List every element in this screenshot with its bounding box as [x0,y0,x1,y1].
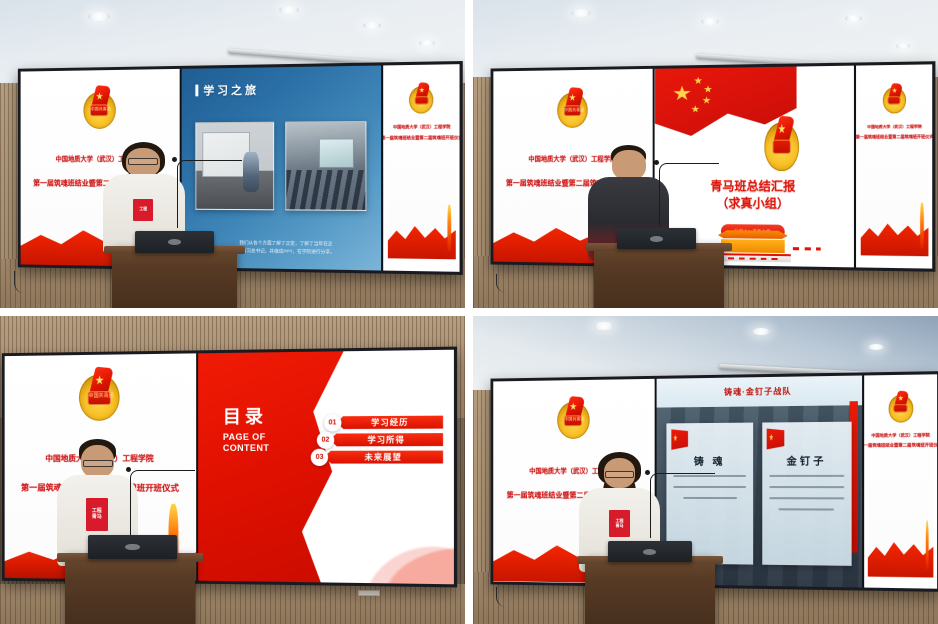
toc-heading-en-line-2: CONTENT [223,443,269,454]
communist-youth-league-emblem [765,122,799,170]
toc-item[interactable]: 01 学习经历 [324,413,443,431]
slide-header: 铸魂·金钉子战队 [657,375,862,407]
banner-line-1: 中国地质大学（武汉）工程学院 [872,432,930,438]
panel-top-right[interactable]: 中国共青团 中国地质大学（武汉）工程学院 第一届筑魂班结业暨第二届筑魂班开班仪式 [473,0,938,308]
star-icon [892,87,897,93]
slide-title-group: 学习之旅 [196,81,260,98]
toc-heading: 目录 PAGE OF CONTENT [223,403,269,454]
banner-line-1: 中国地质大学（武汉）工程学院 [867,123,922,129]
screen-center-slide: 目录 PAGE OF CONTENT 01 学习经历 02 学习所得 [196,350,454,585]
tshirt-logo: 工程 青马 [86,498,108,531]
slide-table-of-contents: 目录 PAGE OF CONTENT 01 学习经历 02 学习所得 [198,350,454,585]
chinese-flag-icon [671,429,688,451]
seminar-room-photo [286,121,367,211]
tshirt-logo: 工程 青马 [609,510,630,538]
text-line [770,486,845,488]
communist-youth-league-emblem [409,86,433,114]
star-icon [419,87,424,93]
communist-youth-league-emblem [883,87,906,114]
toc-item-number: 02 [317,431,334,448]
slide-title: 学习之旅 [204,81,260,98]
toc-heading-en-line-1: PAGE OF [223,432,269,443]
star-icon [694,76,702,84]
gate-base [715,253,791,262]
event-banner-right: 中国地质大学（武汉）工程学院 第一届筑魂班结业暨第二届筑魂班开班仪式 [860,76,928,256]
toc-item-number: 03 [311,448,328,465]
downlight [868,344,884,350]
star-icon [673,85,691,101]
toc-item[interactable]: 02 学习所得 [317,430,443,448]
banner-mountain-graphic [860,209,928,256]
podium [112,246,238,308]
panel-bottom-right[interactable]: 中国共青团 中国地质大学（武汉）工程学院 第一届筑魂班结业暨第二届筑魂班开班仪式… [473,316,938,624]
glasses-icon [128,158,158,164]
laptop [608,541,692,563]
card-title: 金钉子 [787,452,827,467]
star-icon [704,85,712,93]
microphone-stand [659,163,719,225]
downlight [363,22,381,29]
screen-right-banner: 中国地质大学（武汉）工程学院 第一届筑魂班结业暨第二届筑魂班开班仪式 [854,64,933,269]
glasses-icon [605,471,633,478]
head [612,150,646,180]
toc-item-label[interactable]: 未来展望 [325,450,444,463]
star-icon [95,375,104,385]
toc-item-label[interactable]: 学习经历 [337,415,443,429]
photo-grid: 中国共青团 中国地质大学（武汉）工程学院 第一届筑魂班结业暨第二届筑魂班开班仪式… [0,0,938,624]
toc-item[interactable]: 03 未来展望 [311,448,443,465]
banner-line-2: 第一届筑魂班结业暨第二届筑魂班开班仪式 [862,443,937,449]
event-banner-right: 中国地质大学（武汉）工程学院 第一届筑魂班结业暨第二届筑魂班开班仪式 [868,385,934,577]
chinese-flag-icon [767,428,785,451]
text-line [779,508,834,510]
microphone-stand [130,470,195,538]
torch-graphic [920,202,923,249]
panel-top-left[interactable]: 中国共青团 中国地质大学（武汉）工程学院 第一届筑魂班结业暨第二届筑魂班开班仪式… [0,0,465,308]
podium [65,553,195,624]
star-icon [898,395,903,401]
text-gap [770,480,845,483]
event-banner-right: 中国地质大学（武汉）工程学院 第一届筑魂班结业暨第二届筑魂班开班仪式 [388,76,456,259]
title-accent-bar [196,84,199,96]
torch-graphic [926,519,929,569]
communist-youth-league-emblem: 中国共青团 [557,401,589,439]
communist-youth-league-emblem [888,394,913,422]
banner-line-1: 中国地质大学（武汉）工程学院 [393,124,450,130]
toc-swirl-graphic [319,504,454,584]
banner-line-2: 第一届筑魂班结业暨第二届筑魂班开班仪式 [856,134,933,140]
slide-title: 铸魂·金钉子战队 [724,385,791,397]
screen-right-banner: 中国地质大学（武汉）工程学院 第一届筑魂班结业暨第二届筑魂班开班仪式 [862,374,937,588]
microphone-icon [126,467,131,472]
text-gap [770,502,845,505]
dash-row-right [793,247,821,250]
banner-mountain-graphic [868,527,934,577]
wall-plate [358,590,380,596]
banner-line-2: 第一届筑魂班结业暨第二届筑魂班开班仪式 [381,134,460,140]
card-body-text [770,475,845,511]
microphone-stand [650,473,715,538]
card-jindingzi: 金钉子 [763,422,852,566]
star-icon [691,105,699,113]
card-title: 铸 魂 [694,452,726,467]
banner-mountain-graphic [388,211,456,259]
laptop [135,231,214,253]
star-icon [703,96,711,104]
panel-bottom-left[interactable]: 中国共青团 中国地质大学（武汉）工程学院 第一届筑魂班结业暨第二届筑魂班开班仪式… [0,316,465,624]
laptop [617,228,696,250]
star-icon [570,402,577,410]
star-icon [569,93,576,101]
tshirt-logo: 工程 [133,199,153,221]
laptop [88,535,176,560]
microphone-stand [177,160,242,228]
toc-item-number: 01 [324,414,341,431]
podium [585,556,715,624]
text-line [770,475,845,477]
toc-item-label[interactable]: 学习所得 [330,433,443,447]
communist-youth-league-emblem: 中国共青团 [557,93,588,129]
glasses-icon [83,460,113,467]
gate-roof [718,230,788,239]
torch-graphic [447,204,450,252]
text-line [770,497,845,499]
toc-item-list[interactable]: 01 学习经历 02 学习所得 03 未来展望 [324,413,443,465]
star-icon [96,92,103,100]
screen-right-banner: 中国地质大学（武汉）工程学院 第一届筑魂班结业暨第二届筑魂班开班仪式 [381,64,460,272]
communist-youth-league-emblem: 中国共青团 [79,374,120,421]
podium [594,243,724,308]
text-gap [770,491,845,494]
star-icon [778,123,785,134]
toc-heading-cn: 目录 [223,403,269,429]
downlight [419,40,435,46]
communist-youth-league-emblem: 中国共青团 [83,91,115,128]
